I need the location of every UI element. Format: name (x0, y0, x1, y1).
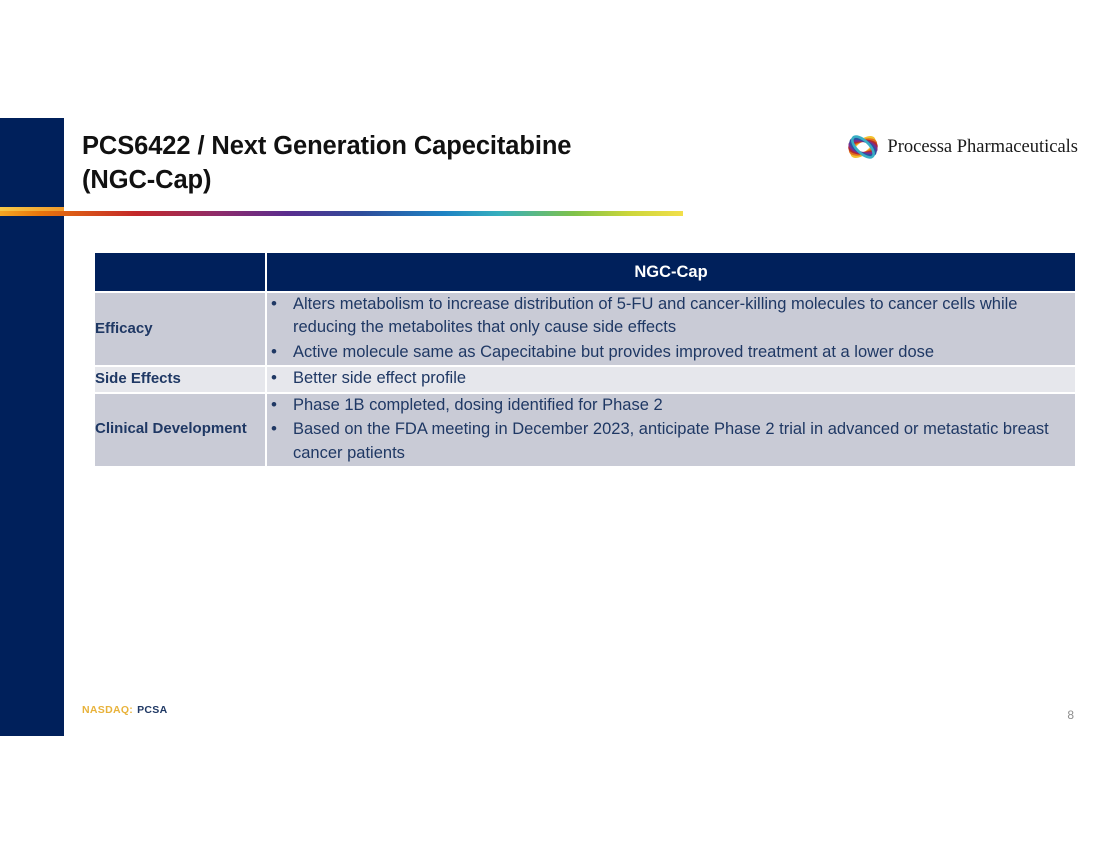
list-item: Active molecule same as Capecitabine but… (267, 341, 1075, 364)
list-item: Phase 1B completed, dosing identified fo… (267, 394, 1075, 417)
bullet-list: Better side effect profile (267, 367, 1075, 390)
table-body: Efficacy Alters metabolism to increase d… (95, 293, 1075, 468)
slide-canvas: PCS6422 / Next Generation Capecitabine (… (0, 118, 1100, 736)
title-block: PCS6422 / Next Generation Capecitabine (… (82, 130, 722, 197)
bullet-list: Alters metabolism to increase distributi… (267, 293, 1075, 364)
list-item: Alters metabolism to increase distributi… (267, 293, 1075, 340)
nasdaq-ticker: NASDAQ:PCSA (82, 704, 167, 716)
table-row: Clinical Development Phase 1B completed,… (95, 394, 1075, 468)
ticker-exchange-label: NASDAQ: (82, 704, 133, 716)
page-number: 8 (1067, 708, 1074, 722)
comparison-table: NGC-Cap Efficacy Alters metabolism to in… (95, 253, 1075, 468)
table-header-blank (95, 253, 267, 293)
row-label-clinical-development: Clinical Development (95, 394, 267, 468)
table-header-row: NGC-Cap (95, 253, 1075, 293)
table-row: Side Effects Better side effect profile (95, 367, 1075, 393)
processa-globe-icon (846, 130, 880, 164)
row-content-side-effects: Better side effect profile (267, 367, 1075, 393)
row-content-efficacy: Alters metabolism to increase distributi… (267, 293, 1075, 367)
list-item: Based on the FDA meeting in December 202… (267, 418, 1075, 465)
rainbow-divider (0, 211, 683, 216)
table-row: Efficacy Alters metabolism to increase d… (95, 293, 1075, 367)
page-title: PCS6422 / Next Generation Capecitabine (… (82, 130, 722, 197)
list-item: Better side effect profile (267, 367, 1075, 390)
table-header-ngc-cap: NGC-Cap (267, 253, 1075, 293)
ticker-symbol-label: PCSA (137, 704, 167, 716)
company-name: Processa Pharmaceuticals (887, 137, 1078, 158)
row-label-side-effects: Side Effects (95, 367, 267, 393)
brand-logo: Processa Pharmaceuticals (846, 130, 1078, 164)
row-label-efficacy: Efficacy (95, 293, 267, 367)
row-content-clinical-development: Phase 1B completed, dosing identified fo… (267, 394, 1075, 468)
bullet-list: Phase 1B completed, dosing identified fo… (267, 394, 1075, 465)
